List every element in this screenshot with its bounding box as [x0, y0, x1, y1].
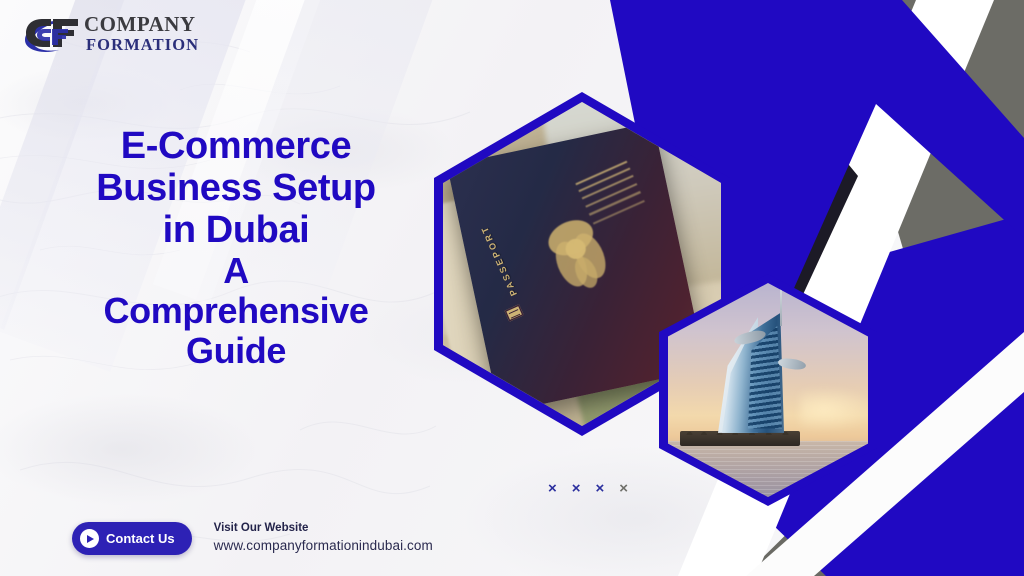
passport-biometric-icon: [505, 304, 524, 321]
play-icon: [80, 529, 99, 548]
headline-line-6: Guide: [46, 331, 426, 371]
passport-label-text: PASSEPORT: [478, 223, 518, 297]
sunset-glow: [800, 386, 868, 433]
website-info: Visit Our Website www.companyformationin…: [214, 521, 433, 556]
website-url-link[interactable]: www.companyformationindubai.com: [214, 538, 433, 553]
tower-mast: [780, 287, 782, 326]
headline-line-5: Comprehensive: [46, 291, 426, 331]
page-title: E-Commerce Business Setup in Dubai A Com…: [46, 126, 426, 370]
brand-logo[interactable]: COMPANY FORMATION: [22, 8, 222, 64]
contact-us-label: Contact Us: [106, 531, 175, 546]
logo-line-company: COMPANY: [84, 13, 199, 35]
x-mark-icon: ×: [596, 481, 605, 496]
x-mark-icon: ×: [572, 481, 581, 496]
logo-wordmark: COMPANY FORMATION: [84, 13, 199, 55]
headline-line-1: E-Commerce: [46, 126, 426, 168]
play-triangle: [87, 535, 94, 543]
contact-us-button[interactable]: Contact Us: [72, 522, 192, 555]
headline-line-2: Business Setup: [46, 168, 426, 210]
sea-water: [668, 441, 868, 497]
logo-line-formation: FORMATION: [84, 35, 199, 55]
x-mark-icon: ×: [548, 481, 557, 496]
headline-line-3: in Dubai: [46, 210, 426, 252]
visit-website-label: Visit Our Website: [214, 521, 433, 536]
burj-al-arab-hexagon-image: [659, 274, 877, 506]
cf-monogram-icon: [22, 12, 84, 56]
headline-line-4: A: [46, 251, 426, 291]
promo-banner: COMPANY FORMATION E-Commerce Business Se…: [0, 0, 1024, 576]
x-mark-icon: ×: [619, 481, 628, 496]
x-mark-divider: × × × ×: [548, 481, 628, 496]
footer-bar: Contact Us Visit Our Website www.company…: [72, 521, 433, 556]
